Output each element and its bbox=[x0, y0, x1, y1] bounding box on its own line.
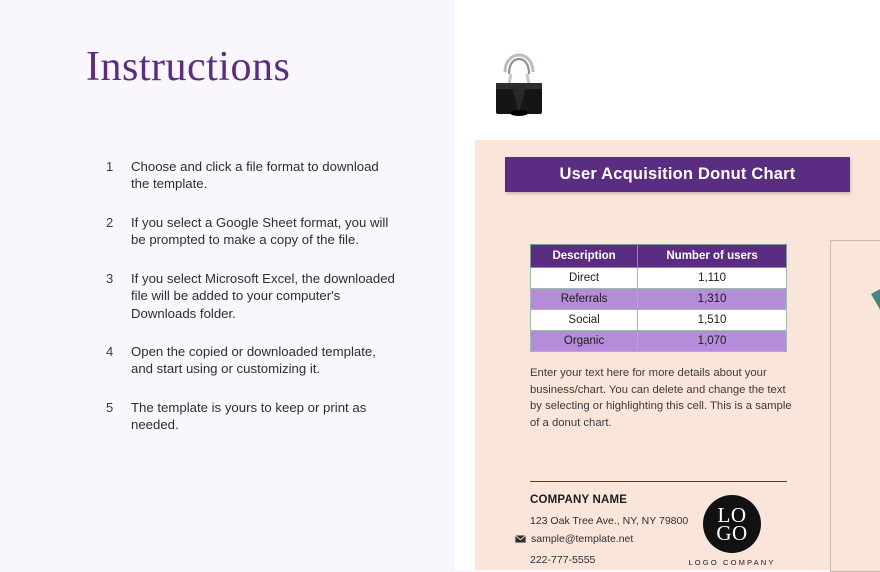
table-header-row: Description Number of users bbox=[531, 245, 787, 268]
envelope-icon bbox=[515, 535, 526, 543]
company-name: COMPANY NAME bbox=[530, 494, 627, 506]
logo-line-2: GO bbox=[716, 524, 747, 542]
page-title: Instructions bbox=[86, 44, 290, 90]
chart-title-text: User Acquisition Donut Chart bbox=[560, 165, 796, 184]
chart-title-bar: User Acquisition Donut Chart bbox=[505, 157, 850, 192]
instructions-panel: Instructions 1 Choose and click a file f… bbox=[0, 0, 455, 570]
footer-divider bbox=[530, 481, 787, 482]
cell-users: 1,070 bbox=[638, 331, 787, 352]
instruction-number: 4 bbox=[106, 343, 131, 378]
instruction-text: If you select Microsoft Excel, the downl… bbox=[131, 270, 396, 322]
table-row: Social 1,510 bbox=[531, 310, 787, 331]
list-item: 4 Open the copied or downloaded template… bbox=[106, 343, 396, 378]
cell-users: 1,310 bbox=[638, 289, 787, 310]
cell-description: Direct bbox=[531, 268, 638, 289]
table-row: Referrals 1,310 bbox=[531, 289, 787, 310]
logo-badge: LO GO bbox=[703, 495, 761, 553]
list-item: 1 Choose and click a file format to down… bbox=[106, 158, 396, 193]
company-phone: 222-777-5555 bbox=[530, 554, 595, 566]
list-item: 2 If you select a Google Sheet format, y… bbox=[106, 214, 396, 249]
donut-chart bbox=[841, 276, 880, 536]
list-item: 3 If you select Microsoft Excel, the dow… bbox=[106, 270, 396, 322]
instruction-text: If you select a Google Sheet format, you… bbox=[131, 214, 396, 249]
instruction-number: 5 bbox=[106, 399, 131, 434]
company-email: sample@template.net bbox=[531, 533, 633, 545]
instructions-list: 1 Choose and click a file format to down… bbox=[106, 158, 396, 455]
chart-description-text: Enter your text here for more details ab… bbox=[530, 365, 792, 431]
logo-caption: LOGO COMPANY bbox=[678, 558, 786, 567]
instruction-text: Choose and click a file format to downlo… bbox=[131, 158, 396, 193]
company-email-row: sample@template.net bbox=[515, 533, 633, 545]
list-item: 5 The template is yours to keep or print… bbox=[106, 399, 396, 434]
document-preview-page: User Acquisition Donut Chart Description… bbox=[455, 0, 880, 570]
cell-users: 1,110 bbox=[638, 268, 787, 289]
cell-description: Referrals bbox=[531, 289, 638, 310]
document-content-area: User Acquisition Donut Chart Description… bbox=[475, 140, 880, 570]
instruction-number: 1 bbox=[106, 158, 131, 193]
data-table: Description Number of users Direct 1,110… bbox=[530, 244, 787, 352]
donut-chart-box bbox=[830, 240, 880, 572]
column-header-users: Number of users bbox=[638, 245, 787, 268]
company-address: 123 Oak Tree Ave., NY, NY 79800 bbox=[530, 515, 688, 527]
table-row: Organic 1,070 bbox=[531, 331, 787, 352]
cell-description: Organic bbox=[531, 331, 638, 352]
instruction-number: 3 bbox=[106, 270, 131, 322]
table-row: Direct 1,110 bbox=[531, 268, 787, 289]
binder-clip-icon bbox=[491, 52, 547, 118]
cell-users: 1,510 bbox=[638, 310, 787, 331]
column-header-description: Description bbox=[531, 245, 638, 268]
cell-description: Social bbox=[531, 310, 638, 331]
instruction-text: The template is yours to keep or print a… bbox=[131, 399, 396, 434]
instruction-number: 2 bbox=[106, 214, 131, 249]
instruction-text: Open the copied or downloaded template, … bbox=[131, 343, 396, 378]
